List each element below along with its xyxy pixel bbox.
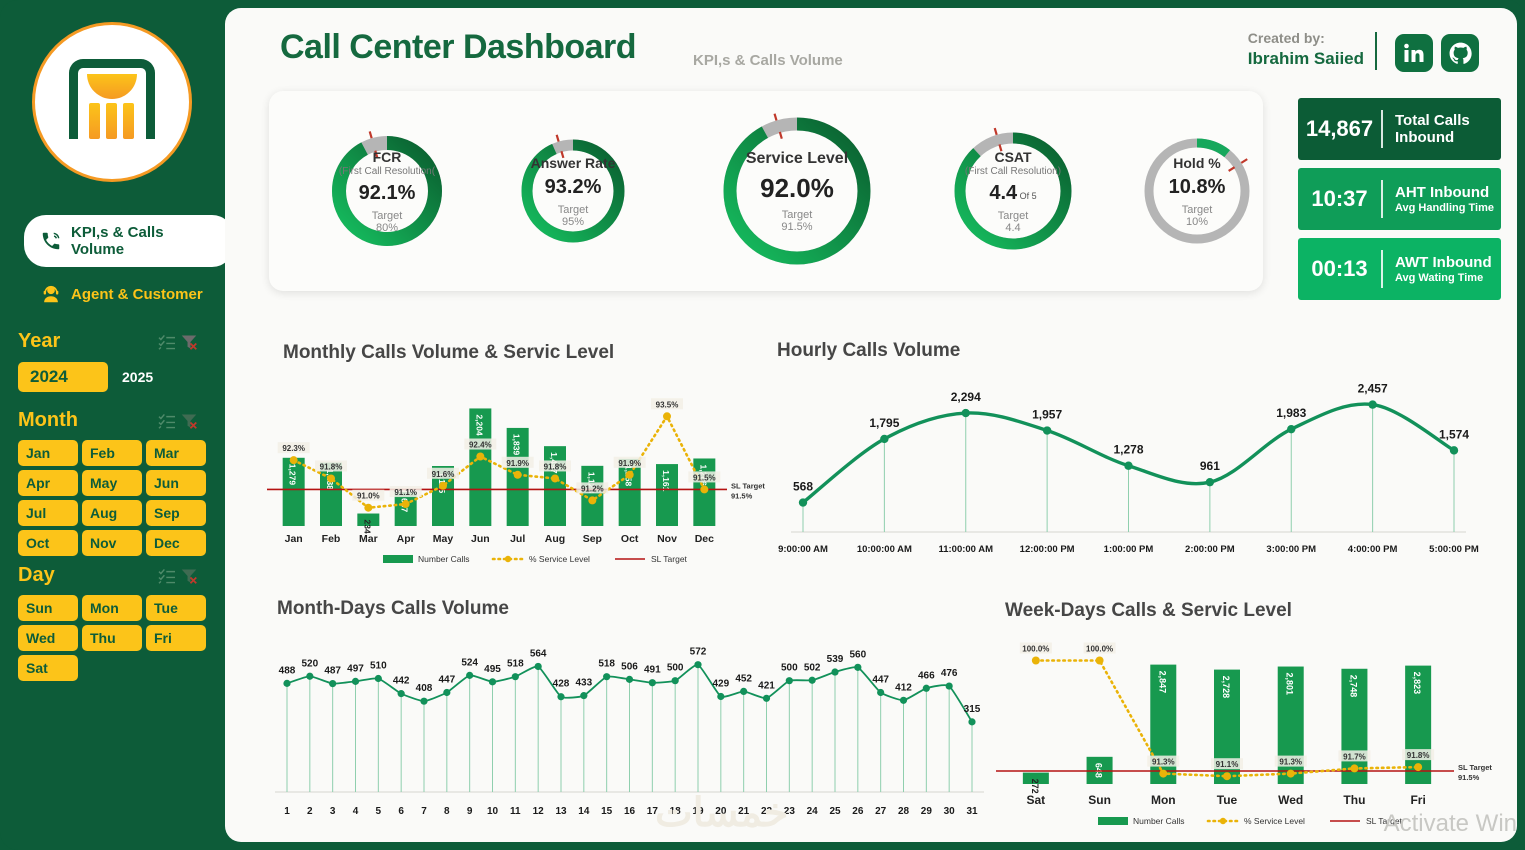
x-axis-label: 11:00:00 AM <box>938 544 993 555</box>
x-axis-label: Mar <box>359 533 378 545</box>
created-by-label: Created by: <box>1248 30 1364 46</box>
data-point[interactable] <box>1287 425 1295 433</box>
data-point[interactable] <box>799 498 807 506</box>
x-axis-label: Sat <box>1027 793 1046 807</box>
data-point[interactable] <box>489 678 496 685</box>
gauge-sublabel: (First Call Resolution( <box>339 166 435 177</box>
x-axis-label: 11 <box>510 806 521 817</box>
day-chip-fri[interactable]: Fri <box>146 625 206 651</box>
gauge-target-value: 95% <box>562 216 584 228</box>
data-point[interactable] <box>962 409 970 417</box>
gauge-target-label: Target <box>1182 204 1213 216</box>
x-axis-label: 3 <box>330 806 336 817</box>
sidebar-item-label: Agent & Customer <box>71 286 203 303</box>
chart-hourly-calls-volume[interactable]: 5689:00:00 AM1,79510:00:00 AM2,29411:00:… <box>755 360 1500 570</box>
service-level-point[interactable] <box>1223 772 1231 780</box>
filter-options-year[interactable]: 2024 2025 <box>18 362 206 392</box>
data-point-label: 1,983 <box>1276 406 1306 420</box>
data-point[interactable] <box>786 677 793 684</box>
bar-value-label: 234 <box>362 520 372 534</box>
x-axis-label: Mon <box>1151 793 1176 807</box>
bar-value-label: 272 <box>1030 779 1040 794</box>
day-chip-sun[interactable]: Sun <box>18 595 78 621</box>
multi-select-icon[interactable] <box>158 568 176 584</box>
bar-value-label: 2,823 <box>1412 672 1422 695</box>
kpi-card-text: AWT InboundAvg Wating Time <box>1383 254 1501 284</box>
data-point[interactable] <box>375 675 382 682</box>
x-axis-label: 27 <box>875 806 887 817</box>
data-point-label: 412 <box>895 682 912 693</box>
legend-dot-sl <box>1220 818 1226 824</box>
multi-select-icon[interactable] <box>158 334 176 350</box>
service-level-point[interactable] <box>626 471 634 479</box>
service-level-label: 92.4% <box>469 441 492 450</box>
service-level-label: 91.8% <box>544 462 567 471</box>
data-point[interactable] <box>968 718 975 725</box>
gauge-text: Hold %10.8%Target10% <box>1138 132 1256 250</box>
data-point[interactable] <box>329 680 336 687</box>
gauge-value: 4.4 Of 5 <box>989 182 1036 205</box>
bar-value-label: 1,279 <box>288 464 298 486</box>
data-point[interactable] <box>580 692 587 699</box>
bar-value-label: 2,204 <box>474 414 484 436</box>
gauge-label: Hold % <box>1173 155 1220 171</box>
service-level-label: 91.9% <box>506 459 529 468</box>
day-chip-mon[interactable]: Mon <box>82 595 142 621</box>
chart-monthly-calls-service-level[interactable]: 1,2791,1882346371,1252,2041,8391,4971,12… <box>265 360 775 568</box>
data-point-label: 539 <box>827 654 844 665</box>
x-axis-label: Feb <box>322 533 341 545</box>
data-point[interactable] <box>466 672 473 679</box>
x-axis-label: Dec <box>695 533 714 545</box>
month-chip-oct[interactable]: Oct <box>18 530 78 556</box>
data-point-label: 1,574 <box>1439 427 1469 441</box>
multi-select-icon[interactable] <box>158 413 176 429</box>
gauge-service-level: Service Level92.0%Target91.5% <box>715 109 879 273</box>
x-axis-label: Jun <box>471 533 490 545</box>
gauge-value: 10.8% <box>1169 176 1226 199</box>
x-axis-label: 5 <box>376 806 382 817</box>
service-level-point[interactable] <box>514 471 522 479</box>
x-axis-label: 10 <box>487 806 499 817</box>
service-level-point[interactable] <box>1350 764 1358 772</box>
linkedin-icon <box>1402 41 1426 65</box>
gauge-fcr: FCR(First Call Resolution(92.1%Target80% <box>323 127 451 255</box>
data-point-label: 506 <box>621 661 638 672</box>
data-point-label: 502 <box>804 662 821 673</box>
x-axis-label: Sun <box>1088 793 1111 807</box>
data-point-label: 564 <box>530 648 547 659</box>
data-point[interactable] <box>946 682 953 689</box>
data-point[interactable] <box>626 676 633 683</box>
service-level-point[interactable] <box>588 496 596 504</box>
month-chip-aug[interactable]: Aug <box>82 500 142 526</box>
data-point[interactable] <box>306 673 313 680</box>
service-level-point[interactable] <box>551 474 559 482</box>
gauge-target-label: Target <box>558 204 589 216</box>
data-point[interactable] <box>694 661 701 668</box>
x-axis-label: 4 <box>353 806 359 817</box>
kpi-gauge-panel: FCR(First Call Resolution(92.1%Target80%… <box>269 91 1263 291</box>
gauge-value: 93.2% <box>545 176 602 199</box>
headset-agent-icon <box>40 283 62 305</box>
gauge-target-value: 10% <box>1186 216 1208 228</box>
x-axis-label: Wed <box>1278 793 1303 807</box>
x-axis-label: 6 <box>398 806 404 817</box>
data-point[interactable] <box>352 678 359 685</box>
data-point[interactable] <box>877 689 884 696</box>
page-subtitle: KPI,s & Calls Volume <box>693 52 843 69</box>
data-point[interactable] <box>923 685 930 692</box>
kpi-card-total-calls: 14,867Total CallsInbound <box>1298 98 1501 160</box>
filter-header-day: Day <box>18 564 198 587</box>
legend-swatch-bars <box>1098 817 1128 825</box>
x-axis-label: 12 <box>533 806 545 817</box>
month-chip-jan[interactable]: Jan <box>18 440 78 466</box>
data-point-label: 491 <box>644 665 661 676</box>
sl-target-label: SL Target <box>1458 763 1492 772</box>
x-axis-label: 1:00:00 PM <box>1104 544 1154 555</box>
data-point-label: 429 <box>712 679 729 690</box>
gauge-value: 92.0% <box>760 173 834 204</box>
filter-options-month[interactable]: JanFebMarAprMayJunJulAugSepOctNovDec <box>18 440 206 556</box>
data-point-label: 497 <box>347 663 364 674</box>
gauge-target-value: 80% <box>376 222 398 234</box>
data-point-label: 408 <box>416 683 433 694</box>
gauge-label: CSAT <box>994 149 1031 165</box>
gauge-target-label: Target <box>998 210 1029 222</box>
x-axis-label: 7 <box>421 806 427 817</box>
x-axis-label: 29 <box>921 806 933 817</box>
page-title: Call Center Dashboard <box>280 28 636 67</box>
kpi-card-subtitle: Avg Handling Time <box>1395 202 1501 214</box>
sl-target-value: 91.5% <box>731 491 753 500</box>
x-axis-label: 28 <box>898 806 910 817</box>
service-level-label: 91.5% <box>693 473 716 482</box>
chart-title-hourly: Hourly Calls Volume <box>777 340 960 362</box>
sidebar-item-agent-customer[interactable]: Agent & Customer <box>24 274 224 314</box>
sidebar-item-kpis-calls-volume[interactable]: KPI,s & Calls Volume <box>24 215 234 267</box>
header-divider <box>1375 32 1377 70</box>
service-level-point[interactable] <box>402 500 410 508</box>
data-point-label: 572 <box>690 647 707 658</box>
gauge-target-label: Target <box>372 210 403 222</box>
x-axis-label: 16 <box>624 806 636 817</box>
month-chip-nov[interactable]: Nov <box>82 530 142 556</box>
data-point-label: 476 <box>941 668 958 679</box>
kpi-card-aht-inbound: 10:37AHT InboundAvg Handling Time <box>1298 168 1501 230</box>
service-level-point[interactable] <box>663 412 671 420</box>
app-logo <box>32 22 192 187</box>
data-point-label: 447 <box>872 675 889 686</box>
service-level-label: 100.0% <box>1086 645 1113 654</box>
filter-header-month: Month <box>18 409 198 432</box>
day-chip-thu[interactable]: Thu <box>82 625 142 651</box>
bar-value-label: 2,728 <box>1221 676 1231 699</box>
github-icon <box>1448 41 1473 66</box>
gauge-text: Answer Rate93.2%Target95% <box>514 132 632 250</box>
service-level-label: 100.0% <box>1022 645 1049 654</box>
x-axis-label: 4:00:00 PM <box>1348 544 1398 555</box>
service-level-point[interactable] <box>1096 657 1104 665</box>
month-chip-jun[interactable]: Jun <box>146 470 206 496</box>
kpi-card-number: 00:13 <box>1298 256 1381 282</box>
service-level-point[interactable] <box>700 485 708 493</box>
month-chip-apr[interactable]: Apr <box>18 470 78 496</box>
chart-week-days-calls-service-level[interactable]: 2726482,8472,7282,8012,7482,823SL Target… <box>990 620 1510 830</box>
legend-swatch-bars <box>383 555 413 563</box>
kpi-card-title: Total CallsInbound <box>1395 112 1501 147</box>
x-axis-label: 5:00:00 PM <box>1429 544 1479 555</box>
filter-header-year: Year <box>18 330 198 353</box>
service-level-label: 91.2% <box>581 484 604 493</box>
chart-month-days-calls-volume[interactable]: 4881520248734974510544264087447852494951… <box>265 620 990 832</box>
service-level-point[interactable] <box>327 474 335 482</box>
data-point[interactable] <box>535 663 542 670</box>
filter-title-day: Day <box>18 564 154 587</box>
data-point-label: 560 <box>849 649 866 660</box>
service-level-point[interactable] <box>290 456 298 464</box>
data-point[interactable] <box>603 673 610 680</box>
bar-value-label: 2,847 <box>1157 671 1167 694</box>
day-chip-wed[interactable]: Wed <box>18 625 78 651</box>
kpi-card-title: AWT Inbound <box>1395 254 1501 271</box>
x-axis-label: 15 <box>601 806 613 817</box>
day-chip-sat[interactable]: Sat <box>18 655 78 681</box>
x-axis-label: Sep <box>583 533 602 545</box>
data-point-label: 1,278 <box>1113 443 1143 457</box>
service-level-point[interactable] <box>1032 657 1040 665</box>
service-level-point[interactable] <box>439 482 447 490</box>
x-axis-label: 31 <box>966 806 978 817</box>
kpi-card-subtitle: Avg Wating Time <box>1395 272 1501 284</box>
data-point-label: 500 <box>667 663 684 674</box>
service-level-label: 92.3% <box>282 444 305 453</box>
x-axis-label: Jul <box>510 533 525 545</box>
data-point[interactable] <box>1124 462 1132 470</box>
activate-windows-text: Activate Win <box>1384 810 1517 838</box>
legend-label-bars: Number Calls <box>1133 816 1185 826</box>
x-axis-label: 12:00:00 PM <box>1020 544 1075 555</box>
data-point-label: 421 <box>758 680 775 691</box>
service-level-point[interactable] <box>1159 770 1167 778</box>
watermark: خمسات <box>655 790 788 836</box>
x-axis-label: 2 <box>307 806 313 817</box>
data-point[interactable] <box>649 679 656 686</box>
gauge-target-value: 4.4 <box>1005 222 1020 234</box>
data-point-label: 520 <box>301 658 318 669</box>
service-level-point[interactable] <box>476 453 484 461</box>
gauge-answer-rate: Answer Rate93.2%Target95% <box>514 132 632 250</box>
data-point-label: 510 <box>370 660 387 671</box>
month-chip-sep[interactable]: Sep <box>146 500 206 526</box>
data-point-label: 518 <box>598 659 615 670</box>
service-level-label: 91.8% <box>1407 751 1430 760</box>
sidebar: KPI,s & Calls Volume Agent & Customer Ye… <box>0 0 225 850</box>
x-axis-label: 10:00:00 AM <box>857 544 912 555</box>
service-level-point[interactable] <box>1287 770 1295 778</box>
data-point-label: 433 <box>575 678 592 689</box>
data-point[interactable] <box>557 693 564 700</box>
filter-title-year: Year <box>18 330 154 353</box>
data-point[interactable] <box>740 688 747 695</box>
service-level-label: 91.1% <box>394 488 417 497</box>
filter-options-day[interactable]: SunMonTueWedThuFriSat <box>18 595 206 681</box>
data-point[interactable] <box>1206 478 1214 486</box>
legend-dot-sl <box>505 556 511 562</box>
x-axis-label: 26 <box>852 806 864 817</box>
x-axis-label: Jan <box>285 533 303 545</box>
data-point[interactable] <box>398 690 405 697</box>
gauge-sublabel: (First Call Resolution) <box>965 166 1061 177</box>
gauge-csat: CSAT(First Call Resolution)4.4 Of 5Targe… <box>947 125 1079 257</box>
data-point[interactable] <box>763 695 770 702</box>
kpi-card-text: AHT InboundAvg Handling Time <box>1383 184 1501 214</box>
data-point-label: 447 <box>438 675 455 686</box>
service-level-label: 91.0% <box>357 492 380 501</box>
year-chip-2024[interactable]: 2024 <box>18 362 108 392</box>
x-axis-label: Oct <box>621 533 639 545</box>
chart-title-month-days: Month-Days Calls Volume <box>277 598 509 620</box>
day-chip-tue[interactable]: Tue <box>146 595 206 621</box>
gauge-target-label: Target <box>782 209 813 221</box>
data-point[interactable] <box>854 664 861 671</box>
clear-filter-icon[interactable] <box>180 334 198 350</box>
data-point-label: 524 <box>461 657 478 668</box>
legend-label-target: SL Target <box>651 554 688 564</box>
x-axis-label: 24 <box>807 806 819 817</box>
service-level-label: 91.9% <box>618 459 641 468</box>
legend-label-sl: % Service Level <box>529 554 590 564</box>
data-point-label: 466 <box>918 670 935 681</box>
data-point-label: 428 <box>553 679 570 690</box>
data-point-label: 488 <box>279 665 296 676</box>
x-axis-label: 13 <box>555 806 567 817</box>
gauge-value-suffix: Of 5 <box>1017 191 1037 201</box>
x-axis-label: Nov <box>657 533 677 545</box>
month-chip-feb[interactable]: Feb <box>82 440 142 466</box>
data-point[interactable] <box>809 677 816 684</box>
clear-filter-icon[interactable] <box>180 413 198 429</box>
data-point[interactable] <box>880 435 888 443</box>
data-point-label: 1,795 <box>869 416 899 430</box>
clear-filter-icon[interactable] <box>180 568 198 584</box>
data-point-label: 568 <box>793 480 813 494</box>
bar-value-label: 2,748 <box>1348 675 1358 698</box>
created-by: Created by: Ibrahim Saiied <box>1248 30 1364 69</box>
data-point-label: 442 <box>393 676 410 687</box>
data-point[interactable] <box>283 680 290 687</box>
data-point-label: 1,957 <box>1032 408 1062 422</box>
bar-value-label: 1,839 <box>512 434 522 456</box>
data-point[interactable] <box>420 698 427 705</box>
data-point[interactable] <box>1368 400 1376 408</box>
month-chip-mar[interactable]: Mar <box>146 440 206 466</box>
data-point[interactable] <box>900 697 907 704</box>
gauge-text: FCR(First Call Resolution(92.1%Target80% <box>323 127 451 255</box>
data-point-label: 452 <box>735 673 752 684</box>
month-chip-may[interactable]: May <box>82 470 142 496</box>
data-point-label: 487 <box>324 666 341 677</box>
sl-target-value: 91.5% <box>1458 773 1480 782</box>
month-chip-dec[interactable]: Dec <box>146 530 206 556</box>
kpi-card-text: Total CallsInbound <box>1383 112 1501 147</box>
linkedin-link[interactable] <box>1395 34 1433 72</box>
month-chip-jul[interactable]: Jul <box>18 500 78 526</box>
x-axis-label: 2:00:00 PM <box>1185 544 1235 555</box>
legend-label-sl: % Service Level <box>1244 816 1305 826</box>
bar-value-label: 1,161 <box>661 470 671 492</box>
kpi-card-awt-inbound: 00:13AWT InboundAvg Wating Time <box>1298 238 1501 300</box>
x-axis-label: 9:00:00 AM <box>778 544 828 555</box>
service-level-point[interactable] <box>364 504 372 512</box>
kpi-card-number: 10:37 <box>1298 186 1381 212</box>
main-canvas: Call Center Dashboard KPI,s & Calls Volu… <box>225 8 1517 842</box>
x-axis-label: 3:00:00 PM <box>1266 544 1316 555</box>
data-point-label: 518 <box>507 659 524 670</box>
gauge-label: FCR <box>373 149 402 165</box>
data-point[interactable] <box>443 689 450 696</box>
data-point-label: 315 <box>964 704 981 715</box>
x-axis-label: 14 <box>578 806 590 817</box>
x-axis-label: May <box>433 533 454 545</box>
github-link[interactable] <box>1441 34 1479 72</box>
data-point-label: 500 <box>781 663 798 674</box>
data-point[interactable] <box>512 673 519 680</box>
x-axis-label: Aug <box>545 533 565 545</box>
gauge-hold: Hold %10.8%Target10% <box>1138 132 1256 250</box>
logo-circle <box>32 22 192 182</box>
dashboard-root: KPI,s & Calls Volume Agent & Customer Ye… <box>0 0 1525 850</box>
data-point[interactable] <box>831 668 838 675</box>
filter-title-month: Month <box>18 409 154 432</box>
service-level-label: 91.6% <box>432 470 455 479</box>
kpi-card-title: AHT Inbound <box>1395 184 1501 201</box>
x-axis-label: Fri <box>1410 793 1425 807</box>
data-point-label: 2,294 <box>951 390 981 404</box>
x-axis-label: 30 <box>944 806 956 817</box>
x-axis-label: 9 <box>467 806 473 817</box>
data-point[interactable] <box>1450 446 1458 454</box>
data-point-label: 961 <box>1200 459 1220 473</box>
x-axis-label: 1 <box>284 806 290 817</box>
legend-label-bars: Number Calls <box>418 554 470 564</box>
service-level-label: 91.3% <box>1152 758 1175 767</box>
service-level-label: 91.8% <box>320 462 343 471</box>
gauge-label: Answer Rate <box>531 155 616 171</box>
data-point[interactable] <box>672 677 679 684</box>
data-point-label: 2,457 <box>1358 382 1388 396</box>
gauge-label: Service Level <box>746 150 848 168</box>
data-point[interactable] <box>1043 426 1051 434</box>
gauge-value: 92.1% <box>359 182 416 205</box>
x-axis-label: Thu <box>1343 793 1365 807</box>
year-chip-2025[interactable]: 2025 <box>112 362 162 392</box>
x-axis-label: Tue <box>1217 793 1238 807</box>
service-level-label: 91.7% <box>1343 752 1366 761</box>
x-axis-label: 25 <box>829 806 841 817</box>
kpi-card-number: 14,867 <box>1298 116 1381 142</box>
chart-title-week-days: Week-Days Calls & Servic Level <box>1005 600 1292 622</box>
gauge-target-value: 91.5% <box>781 221 812 233</box>
x-axis-label: Apr <box>397 533 415 545</box>
gauge-text: CSAT(First Call Resolution)4.4 Of 5Targe… <box>947 125 1079 257</box>
service-level-label: 93.5% <box>656 400 679 409</box>
data-point[interactable] <box>717 693 724 700</box>
x-axis-label: 8 <box>444 806 450 817</box>
service-level-point[interactable] <box>1414 763 1422 771</box>
phone-ring-icon <box>40 230 62 252</box>
